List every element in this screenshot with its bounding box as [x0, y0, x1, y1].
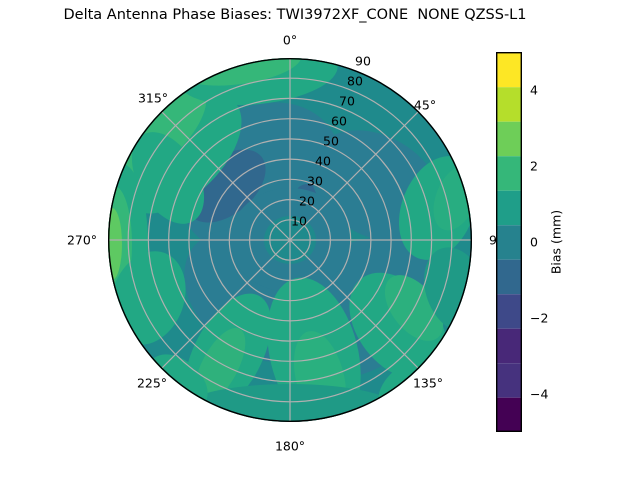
- radial-tick-60: 60: [331, 114, 347, 129]
- angular-tick-135: 135°: [413, 376, 443, 391]
- colorbar-tick-neg2: −2: [530, 311, 548, 326]
- radial-tick-90: 90: [355, 54, 371, 69]
- radial-tick-10: 10: [291, 214, 307, 229]
- radial-tick-80: 80: [347, 74, 363, 89]
- radial-tick-40: 40: [315, 154, 331, 169]
- colorbar-tick-4: 4: [530, 83, 538, 98]
- page-title: Delta Antenna Phase Biases: TWI3972XF_CO…: [0, 7, 590, 23]
- colorbar-gradient: [496, 52, 522, 432]
- angular-tick-0: 0°: [283, 33, 297, 48]
- polar-contour-plot: [108, 58, 472, 422]
- radial-tick-50: 50: [323, 134, 339, 149]
- radial-tick-30: 30: [307, 174, 323, 189]
- angular-tick-225: 225°: [137, 376, 167, 391]
- radial-tick-20: 20: [299, 194, 315, 209]
- figure-canvas: Delta Antenna Phase Biases: TWI3972XF_CO…: [0, 0, 640, 480]
- polar-axes: 0° 45° 90 135° 180° 225° 270° 315° 10 20…: [108, 58, 472, 422]
- colorbar-tick-0: 0: [530, 235, 538, 250]
- angular-tick-270: 270°: [67, 233, 97, 248]
- colorbar-tick-neg4: −4: [530, 387, 548, 402]
- colorbar: 4 2 0 −2 −4: [496, 52, 522, 432]
- radial-tick-70: 70: [339, 94, 355, 109]
- angular-tick-45: 45°: [414, 98, 436, 113]
- colorbar-axis-label: Bias (mm): [549, 210, 564, 274]
- angular-tick-180: 180°: [275, 439, 305, 454]
- colorbar-tick-2: 2: [530, 159, 538, 174]
- angular-tick-315: 315°: [138, 91, 168, 106]
- colorbar-bands: [497, 53, 522, 432]
- polar-grid-spokes: [108, 58, 472, 422]
